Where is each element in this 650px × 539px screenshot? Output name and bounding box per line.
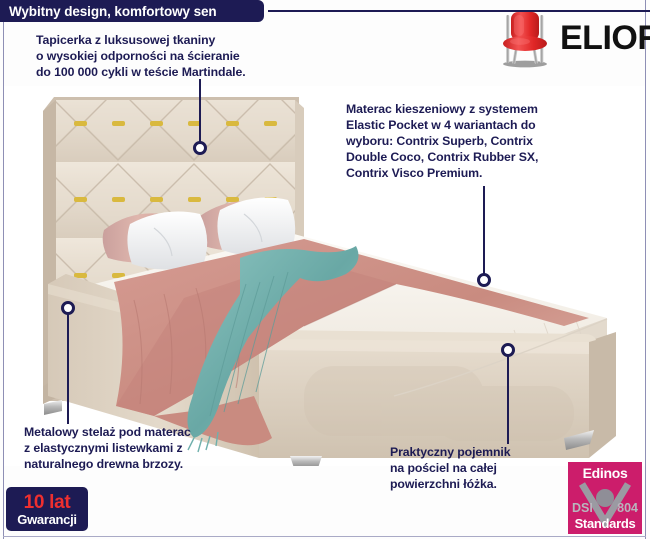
callout-mattress-text: Materac kieszeniowy z systemem Elastic P… [346, 102, 636, 182]
callout-frame-text: Metalowy stelaż pod materac z elastyczny… [24, 425, 294, 473]
edinos-code-right: 804 [617, 501, 638, 515]
warranty-badge: 10 lat Gwarancji [6, 487, 88, 531]
banner: Wybitny design, komfortowy sen [0, 0, 264, 22]
marker-storage[interactable] [501, 343, 515, 357]
banner-title: Wybitny design, komfortowy sen [9, 4, 217, 19]
promo-banner-image: Wybitny design, komfortowy sen [0, 0, 650, 539]
leader-line-storage [507, 356, 509, 444]
callout-upholstery-text: Tapicerka z luksusowej tkaniny o wysokie… [36, 33, 336, 81]
edinos-standards: Standards [568, 516, 642, 531]
marker-upholstery[interactable] [193, 141, 207, 155]
edinos-brand: Edinos [568, 465, 642, 481]
warranty-years: 10 lat [24, 493, 71, 512]
frame-line-bottom [3, 536, 646, 537]
brand-logo: ELIOR [494, 4, 646, 72]
leader-line-upholstery [199, 79, 201, 142]
marker-mattress[interactable] [477, 273, 491, 287]
frame-line-right [645, 0, 646, 539]
leader-line-mattress [483, 186, 485, 274]
edinos-code-left: DSI [572, 501, 593, 515]
leader-line-frame [67, 314, 69, 424]
marker-frame[interactable] [61, 301, 75, 315]
red-chair-icon [494, 6, 556, 70]
callout-storage-text: Praktyczny pojemnik na pościel na całej … [390, 445, 590, 493]
logo-wordmark: ELIOR [560, 21, 650, 55]
edinos-badge: Edinos DSI 804 Standards [568, 462, 642, 534]
warranty-label: Gwarancji [17, 513, 76, 526]
